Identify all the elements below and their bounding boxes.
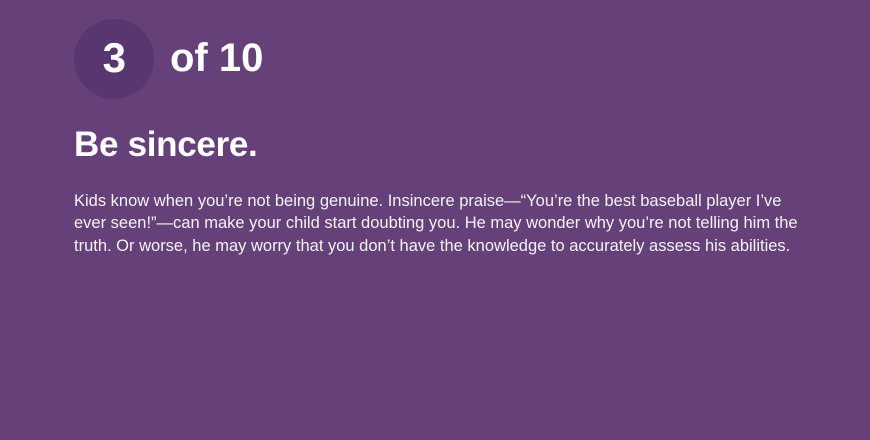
step-number-badge: 3	[74, 19, 154, 99]
tip-body-text: Kids know when you’re not being genuine.…	[74, 190, 798, 257]
step-total-label: of 10	[170, 38, 263, 78]
tip-heading: Be sincere.	[74, 126, 257, 165]
tip-slide: 3 of 10 Be sincere. Kids know when you’r…	[0, 0, 870, 440]
step-counter: 3 of 10	[74, 19, 263, 99]
step-current-number: 3	[103, 37, 126, 79]
